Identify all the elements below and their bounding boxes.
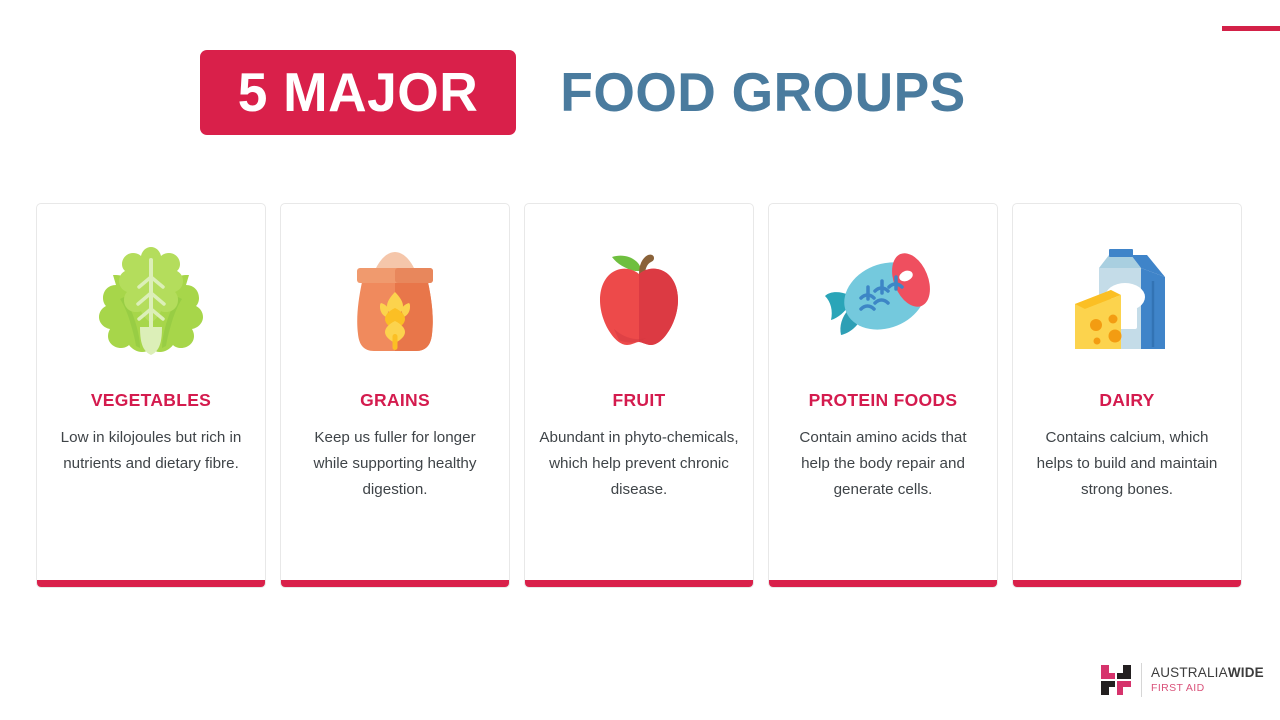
title-badge: 5 MAJOR — [200, 50, 516, 135]
food-groups-card-row: VEGETABLES Low in kilojoules but rich in… — [36, 203, 1244, 588]
card-title: FRUIT — [612, 390, 665, 411]
flour-sack-grain-icon — [340, 226, 450, 376]
card-accent-bar — [769, 580, 997, 587]
food-group-card-dairy[interactable]: DAIRY Contains calcium, which helps to b… — [1012, 203, 1242, 588]
food-group-card-vegetables[interactable]: VEGETABLES Low in kilojoules but rich in… — [36, 203, 266, 588]
card-description: Low in kilojoules but rich in nutrients … — [39, 425, 263, 477]
card-description: Contain amino acids that help the body r… — [771, 425, 995, 503]
card-accent-bar — [1013, 580, 1241, 587]
milk-carton-cheese-icon — [1065, 226, 1189, 376]
page-title: FOOD GROUPS — [560, 65, 965, 120]
logo-name-regular: AUSTRALIA — [1151, 665, 1228, 680]
logo-divider — [1141, 663, 1142, 697]
apple-icon — [584, 226, 694, 376]
logo-name-bold: WIDE — [1228, 665, 1264, 680]
card-description: Abundant in phyto-chemicals, which help … — [527, 425, 751, 503]
fish-icon — [819, 226, 947, 376]
card-title: PROTEIN FOODS — [809, 390, 958, 411]
food-group-card-grains[interactable]: GRAINS Keep us fuller for longer while s… — [280, 203, 510, 588]
card-accent-bar — [37, 580, 265, 587]
logo-tagline: FIRST AID — [1151, 681, 1264, 695]
title-badge-text: 5 MAJOR — [238, 65, 479, 120]
food-group-card-fruit[interactable]: FRUIT Abundant in phyto-chemicals, which… — [524, 203, 754, 588]
card-title: GRAINS — [360, 390, 430, 411]
cross-logo-icon — [1098, 661, 1134, 699]
top-right-accent-bar — [1222, 26, 1280, 31]
logo-company-name: AUSTRALIAWIDE — [1151, 665, 1264, 681]
card-title: DAIRY — [1099, 390, 1154, 411]
leafy-greens-icon — [84, 226, 218, 376]
page-header: 5 MAJOR FOOD GROUPS — [200, 50, 972, 135]
card-accent-bar — [281, 580, 509, 587]
card-title: VEGETABLES — [91, 390, 211, 411]
brand-logo: AUSTRALIAWIDE FIRST AID — [1098, 661, 1264, 699]
food-group-card-protein-foods[interactable]: PROTEIN FOODS Contain amino acids that h… — [768, 203, 998, 588]
card-description: Keep us fuller for longer while supporti… — [283, 425, 507, 503]
card-accent-bar — [525, 580, 753, 587]
logo-text: AUSTRALIAWIDE FIRST AID — [1151, 665, 1264, 695]
card-description: Contains calcium, which helps to build a… — [1015, 425, 1239, 503]
